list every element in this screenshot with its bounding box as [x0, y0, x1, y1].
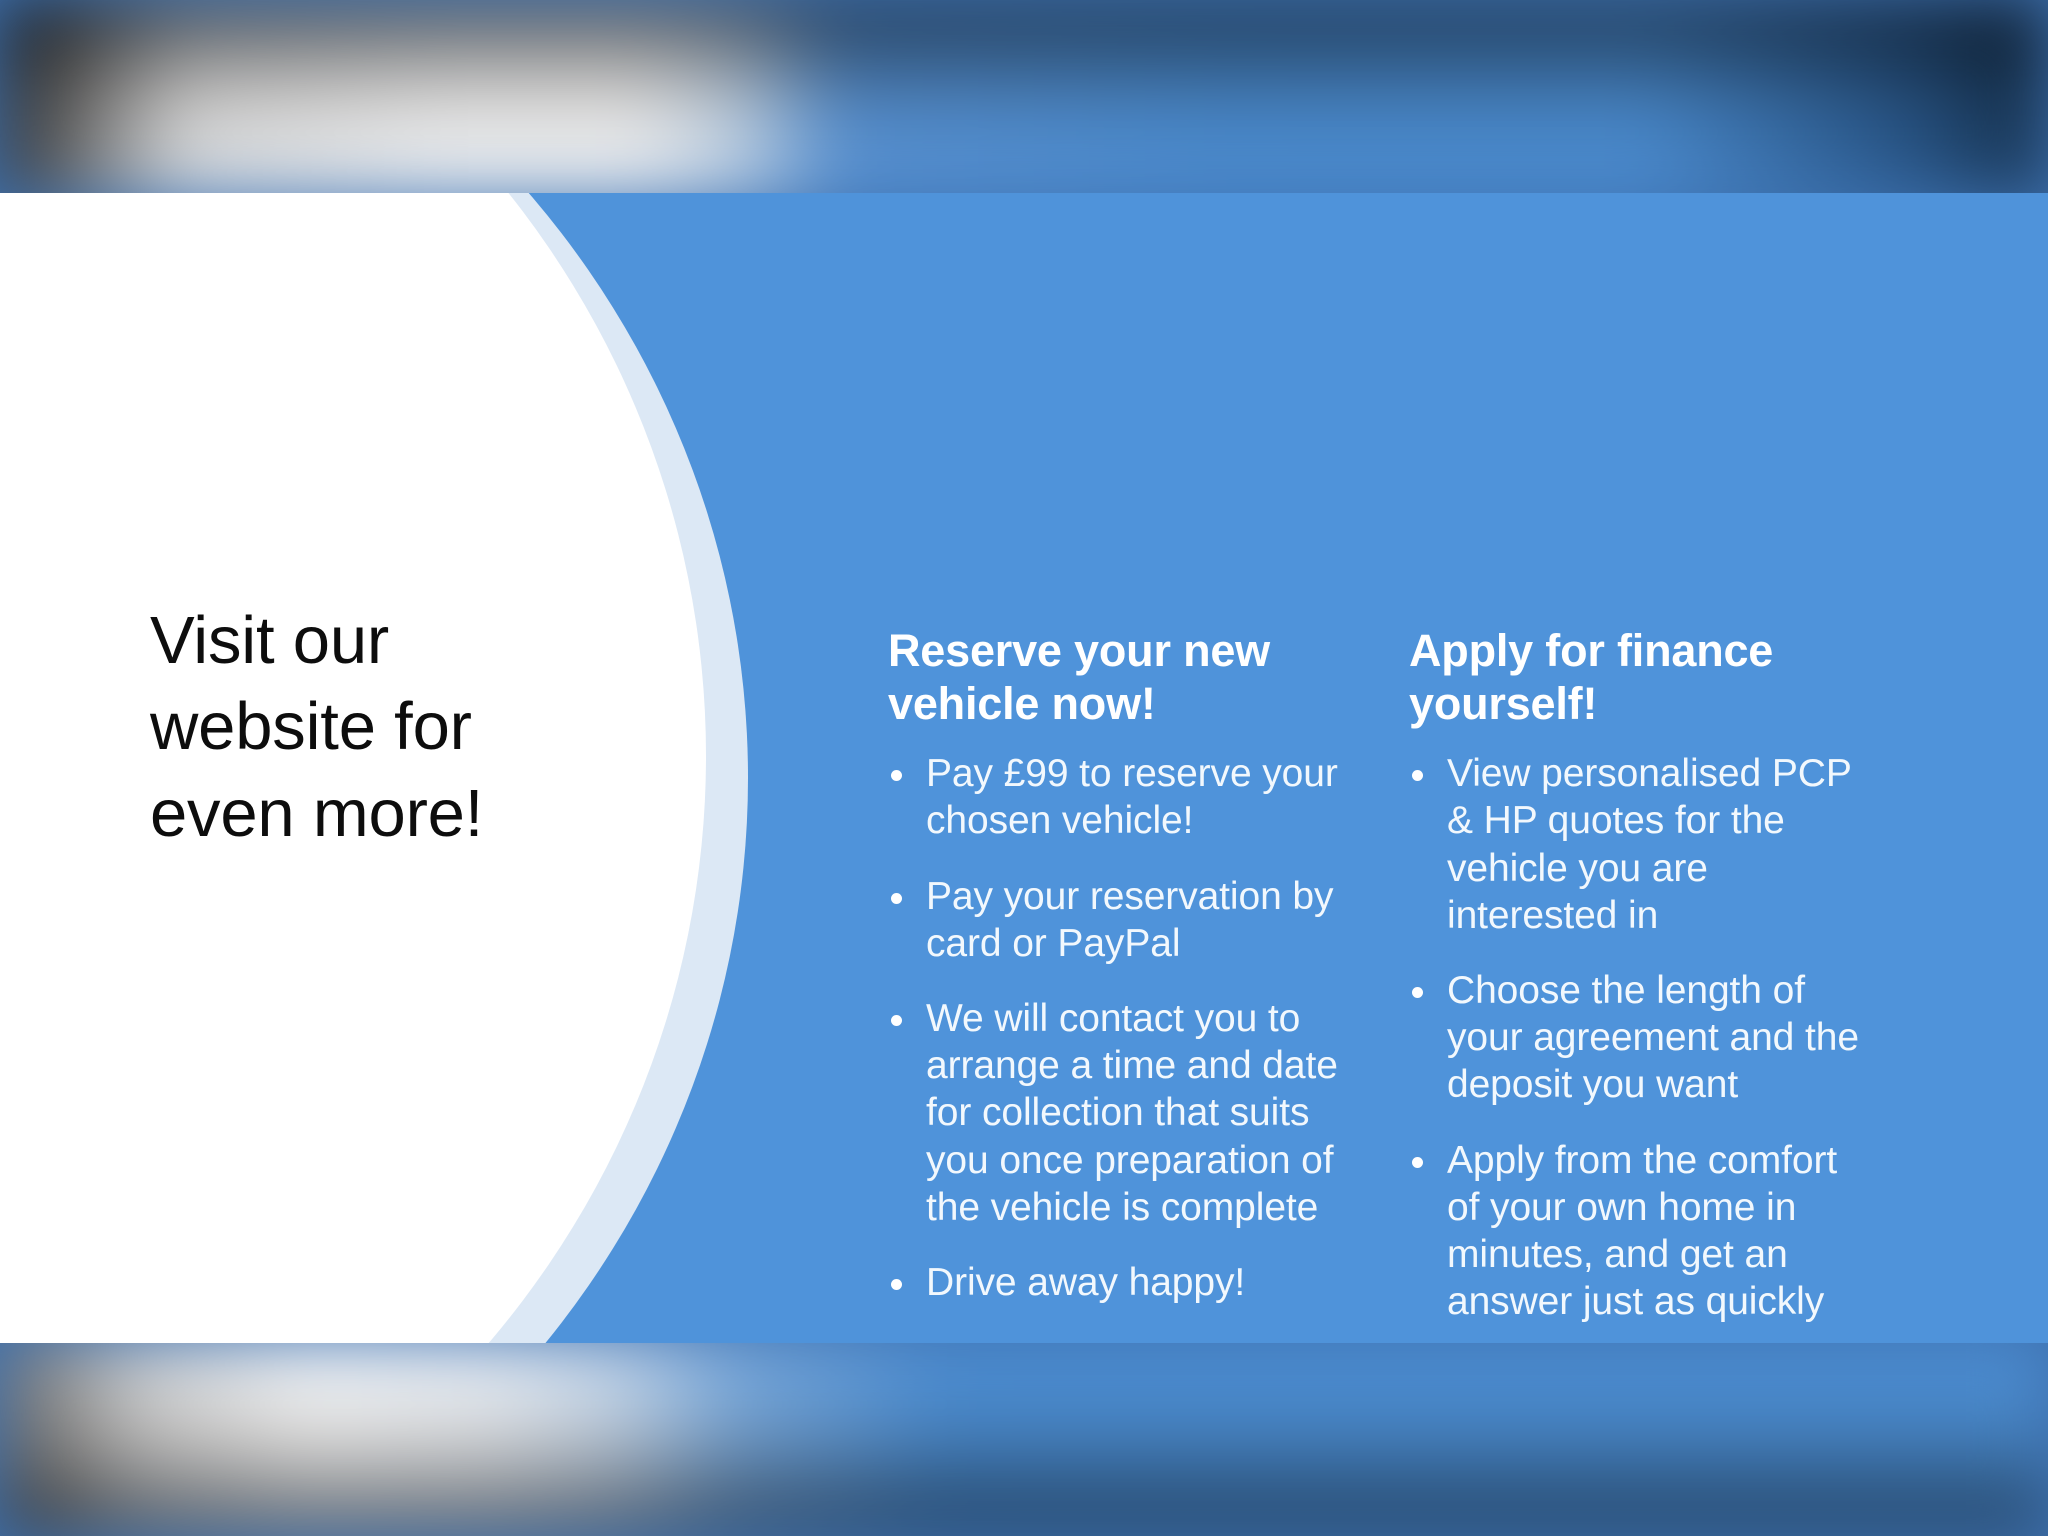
blurred-top-gradient: [0, 0, 2048, 196]
bullet-dot-icon: [891, 893, 902, 904]
presentation-slide: Visit our website for even more! Reserve…: [0, 193, 2048, 1343]
list-item: Choose the length of your agreement and …: [1409, 967, 1874, 1109]
list-item: Apply from the comfort of your own home …: [1409, 1137, 1874, 1326]
column-reserve: Reserve your new vehicle now! Pay £99 to…: [888, 625, 1353, 1325]
bullet-dot-icon: [1412, 1157, 1423, 1168]
bullet-dot-icon: [1412, 987, 1423, 998]
content-columns: Reserve your new vehicle now! Pay £99 to…: [888, 625, 1978, 1325]
column-heading: Apply for finance yourself!: [1409, 625, 1874, 730]
blurred-bottom-gradient: [0, 1340, 2048, 1536]
left-headline-block: Visit our website for even more!: [150, 598, 570, 857]
list-item-label: Apply from the comfort of your own home …: [1447, 1139, 1837, 1324]
bullet-dot-icon: [891, 1015, 902, 1026]
bullet-dot-icon: [1412, 770, 1423, 781]
bullet-dot-icon: [891, 1279, 902, 1290]
list-item: We will contact you to arrange a time an…: [888, 995, 1353, 1231]
list-item-label: Pay £99 to reserve your chosen vehicle!: [926, 752, 1338, 842]
bullet-list: View personalised PCP & HP quotes for th…: [1409, 750, 1874, 1325]
list-item-label: Choose the length of your agreement and …: [1447, 969, 1859, 1106]
page-title: Visit our website for even more!: [150, 598, 570, 857]
list-item-label: We will contact you to arrange a time an…: [926, 997, 1338, 1229]
list-item-label: Drive away happy!: [926, 1261, 1245, 1304]
list-item-label: Pay your reservation by card or PayPal: [926, 875, 1333, 965]
bullet-dot-icon: [891, 770, 902, 781]
bullet-list: Pay £99 to reserve your chosen vehicle! …: [888, 750, 1353, 1306]
column-heading: Reserve your new vehicle now!: [888, 625, 1353, 730]
blurred-top-letterbox: [0, 0, 2048, 196]
slide-stage: Visit our website for even more! Reserve…: [0, 0, 2048, 1536]
list-item-label: View personalised PCP & HP quotes for th…: [1447, 752, 1851, 937]
list-item: Pay £99 to reserve your chosen vehicle!: [888, 750, 1353, 844]
list-item: Pay your reservation by card or PayPal: [888, 873, 1353, 967]
blurred-bottom-letterbox: [0, 1340, 2048, 1536]
list-item: Drive away happy!: [888, 1259, 1353, 1306]
list-item: View personalised PCP & HP quotes for th…: [1409, 750, 1874, 939]
column-finance: Apply for finance yourself! View persona…: [1409, 625, 1874, 1325]
